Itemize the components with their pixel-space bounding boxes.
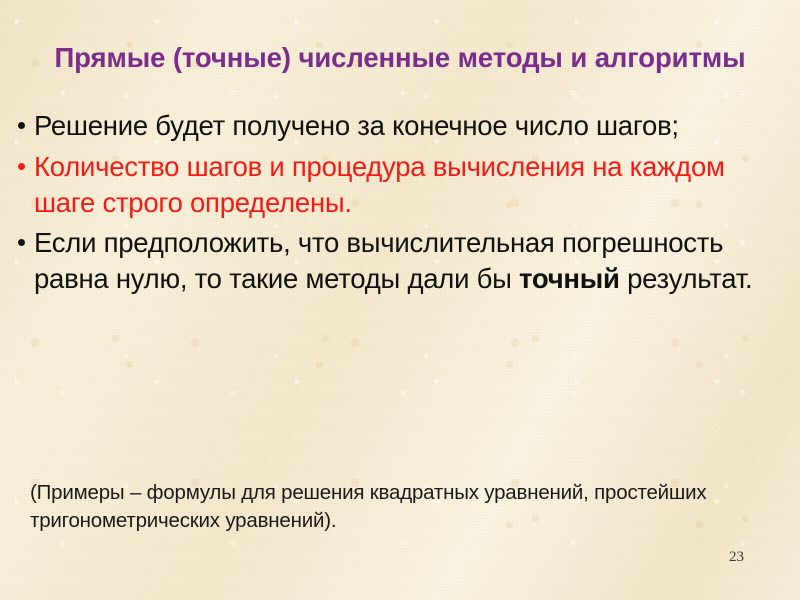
bullet-item-3: Если предположить, что вычислительная по… — [14, 225, 786, 297]
bullet-item-3-text-tail: результат. — [620, 263, 753, 294]
bullet-dot-icon — [18, 239, 25, 246]
slide-title: Прямые (точные) численные методы и алгор… — [40, 40, 760, 76]
slide-number: 23 — [729, 549, 744, 566]
bullet-item-1: Решение будет получено за конечное число… — [14, 108, 786, 144]
bullet-dot-icon — [18, 122, 25, 129]
bullet-item-2: Количество шагов и процедура вычисления … — [14, 149, 786, 221]
bullet-dot-icon — [18, 163, 25, 170]
bullet-item-3-text: Если предположить, что вычислительная по… — [34, 225, 786, 297]
bullet-item-3-emphasis: точный — [519, 263, 620, 294]
bullet-item-1-text-main: Решение будет получено за конечное число… — [34, 110, 679, 141]
slide-note-examples: (Примеры – формулы для решения квадратны… — [30, 479, 770, 536]
bullet-item-2-text-main: Количество шагов и процедура вычисления … — [34, 151, 725, 218]
bullet-list: Решение будет получено за конечное число… — [14, 108, 786, 302]
presentation-slide: Прямые (точные) численные методы и алгор… — [0, 0, 800, 600]
bullet-item-2-text: Количество шагов и процедура вычисления … — [34, 149, 786, 221]
bullet-item-1-text: Решение будет получено за конечное число… — [34, 108, 786, 144]
